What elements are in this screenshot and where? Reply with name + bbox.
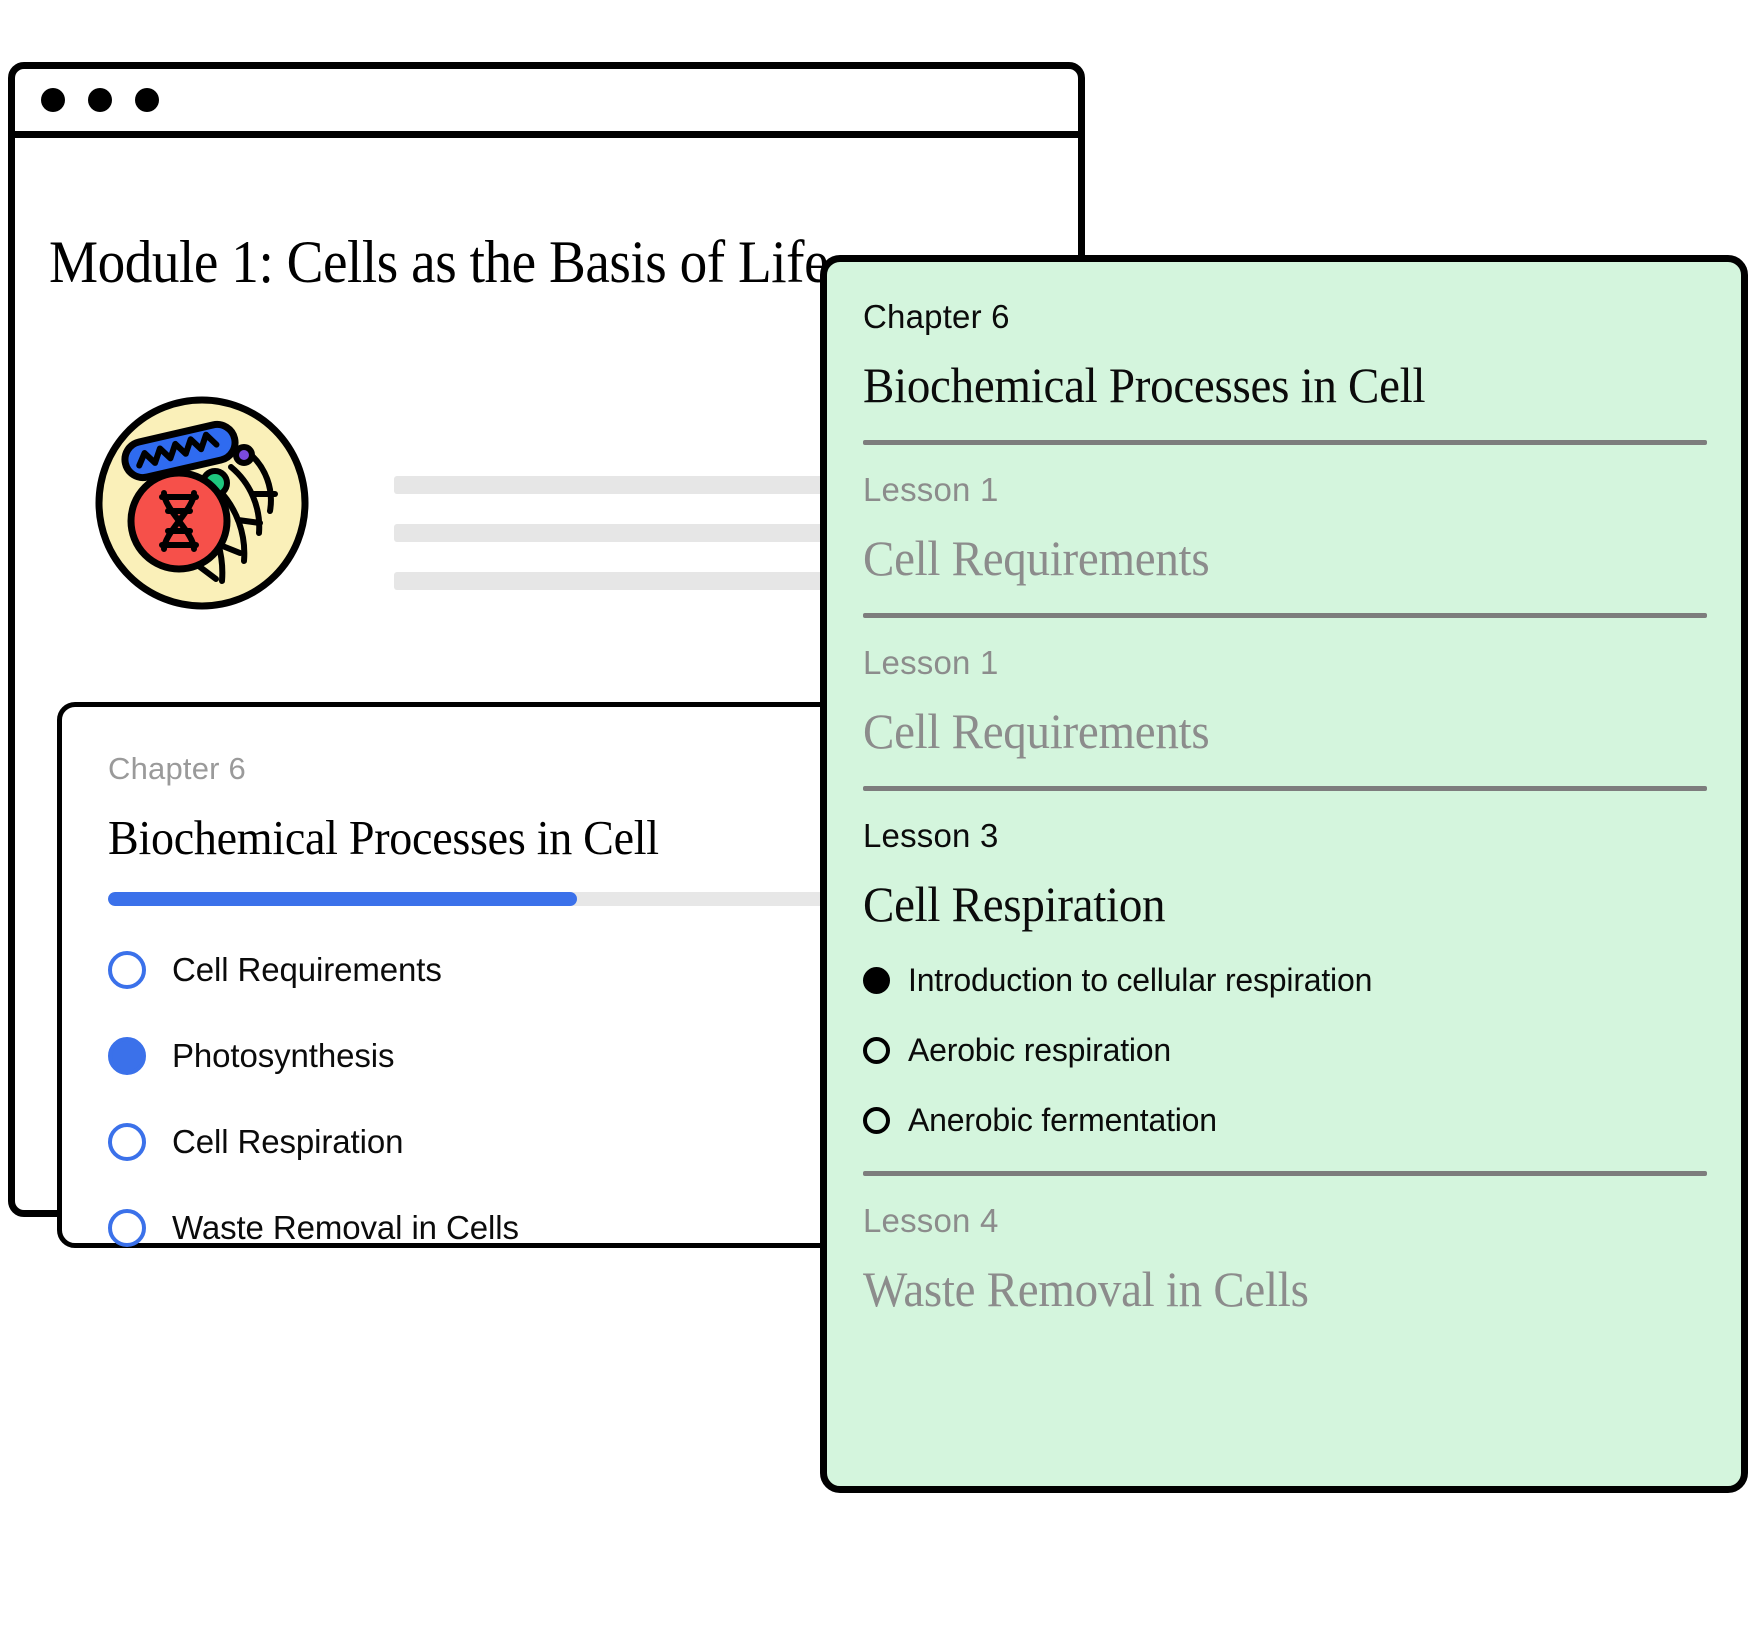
page-title: Module 1: Cells as the Basis of Life: [49, 228, 828, 297]
lesson-topic-item[interactable]: Aerobic respiration: [863, 1025, 1707, 1075]
lesson-checklist-item[interactable]: Cell Respiration: [108, 1112, 836, 1172]
lesson-checklist-item[interactable]: Waste Removal in Cells: [108, 1198, 836, 1258]
lesson-checklist-item[interactable]: Cell Requirements: [108, 940, 836, 1000]
lesson-section[interactable]: Lesson 1 Cell Requirements: [863, 471, 1707, 587]
lesson-checklist: Cell Requirements Photosynthesis Cell Re…: [108, 940, 836, 1258]
panel-eyebrow: Chapter 6: [863, 298, 1707, 336]
lesson-section-eyebrow: Lesson 4: [863, 1202, 1707, 1240]
chapter-outline-panel: Chapter 6 Biochemical Processes in Cell …: [820, 255, 1748, 1493]
lesson-checklist-label: Waste Removal in Cells: [172, 1209, 519, 1247]
window-maximize-dot-icon[interactable]: [135, 88, 159, 112]
chapter-progress-bar: [108, 892, 853, 906]
lesson-section[interactable]: Lesson 4 Waste Removal in Cells: [863, 1202, 1707, 1318]
lesson-topic-item[interactable]: Anerobic fermentation: [863, 1095, 1707, 1145]
panel-divider: [863, 440, 1707, 445]
cell-diagram-icon: [92, 393, 312, 613]
chapter-card-eyebrow: Chapter 6: [108, 751, 836, 787]
lesson-topic-label: Aerobic respiration: [908, 1032, 1171, 1069]
chapter-card-title: Biochemical Processes in Cell: [108, 809, 792, 866]
lesson-topic-list: Introduction to cellular respiration Aer…: [863, 955, 1707, 1145]
lesson-section-eyebrow: Lesson 3: [863, 817, 1707, 855]
panel-divider: [863, 1171, 1707, 1176]
radio-checked-icon[interactable]: [108, 1037, 146, 1075]
chapter-card: Chapter 6 Biochemical Processes in Cell …: [57, 702, 887, 1248]
lesson-topic-label: Anerobic fermentation: [908, 1102, 1217, 1139]
lesson-section-title: Cell Requirements: [863, 529, 1656, 587]
lesson-section-eyebrow: Lesson 1: [863, 471, 1707, 509]
lesson-section[interactable]: Lesson 1 Cell Requirements: [863, 644, 1707, 760]
lesson-topic-label: Introduction to cellular respiration: [908, 962, 1372, 999]
panel-divider: [863, 786, 1707, 791]
lesson-section-title: Cell Requirements: [863, 702, 1656, 760]
lesson-section-title: Waste Removal in Cells: [863, 1260, 1656, 1318]
radio-unchecked-icon[interactable]: [863, 1037, 890, 1064]
panel-title: Biochemical Processes in Cell: [863, 356, 1656, 414]
radio-unchecked-icon[interactable]: [863, 1107, 890, 1134]
chapter-progress-fill: [108, 892, 577, 906]
radio-unchecked-icon[interactable]: [108, 1209, 146, 1247]
lesson-checklist-label: Cell Requirements: [172, 951, 442, 989]
lesson-section-active[interactable]: Lesson 3 Cell Respiration Introduction t…: [863, 817, 1707, 1145]
browser-titlebar: [15, 69, 1078, 138]
radio-unchecked-icon[interactable]: [108, 1123, 146, 1161]
window-minimize-dot-icon[interactable]: [88, 88, 112, 112]
radio-checked-icon[interactable]: [863, 967, 890, 994]
lesson-section-title: Cell Respiration: [863, 875, 1656, 933]
window-close-dot-icon[interactable]: [41, 88, 65, 112]
lesson-checklist-label: Cell Respiration: [172, 1123, 403, 1161]
lesson-section-eyebrow: Lesson 1: [863, 644, 1707, 682]
lesson-topic-item[interactable]: Introduction to cellular respiration: [863, 955, 1707, 1005]
panel-divider: [863, 613, 1707, 618]
lesson-checklist-label: Photosynthesis: [172, 1037, 394, 1075]
radio-unchecked-icon[interactable]: [108, 951, 146, 989]
lesson-checklist-item[interactable]: Photosynthesis: [108, 1026, 836, 1086]
